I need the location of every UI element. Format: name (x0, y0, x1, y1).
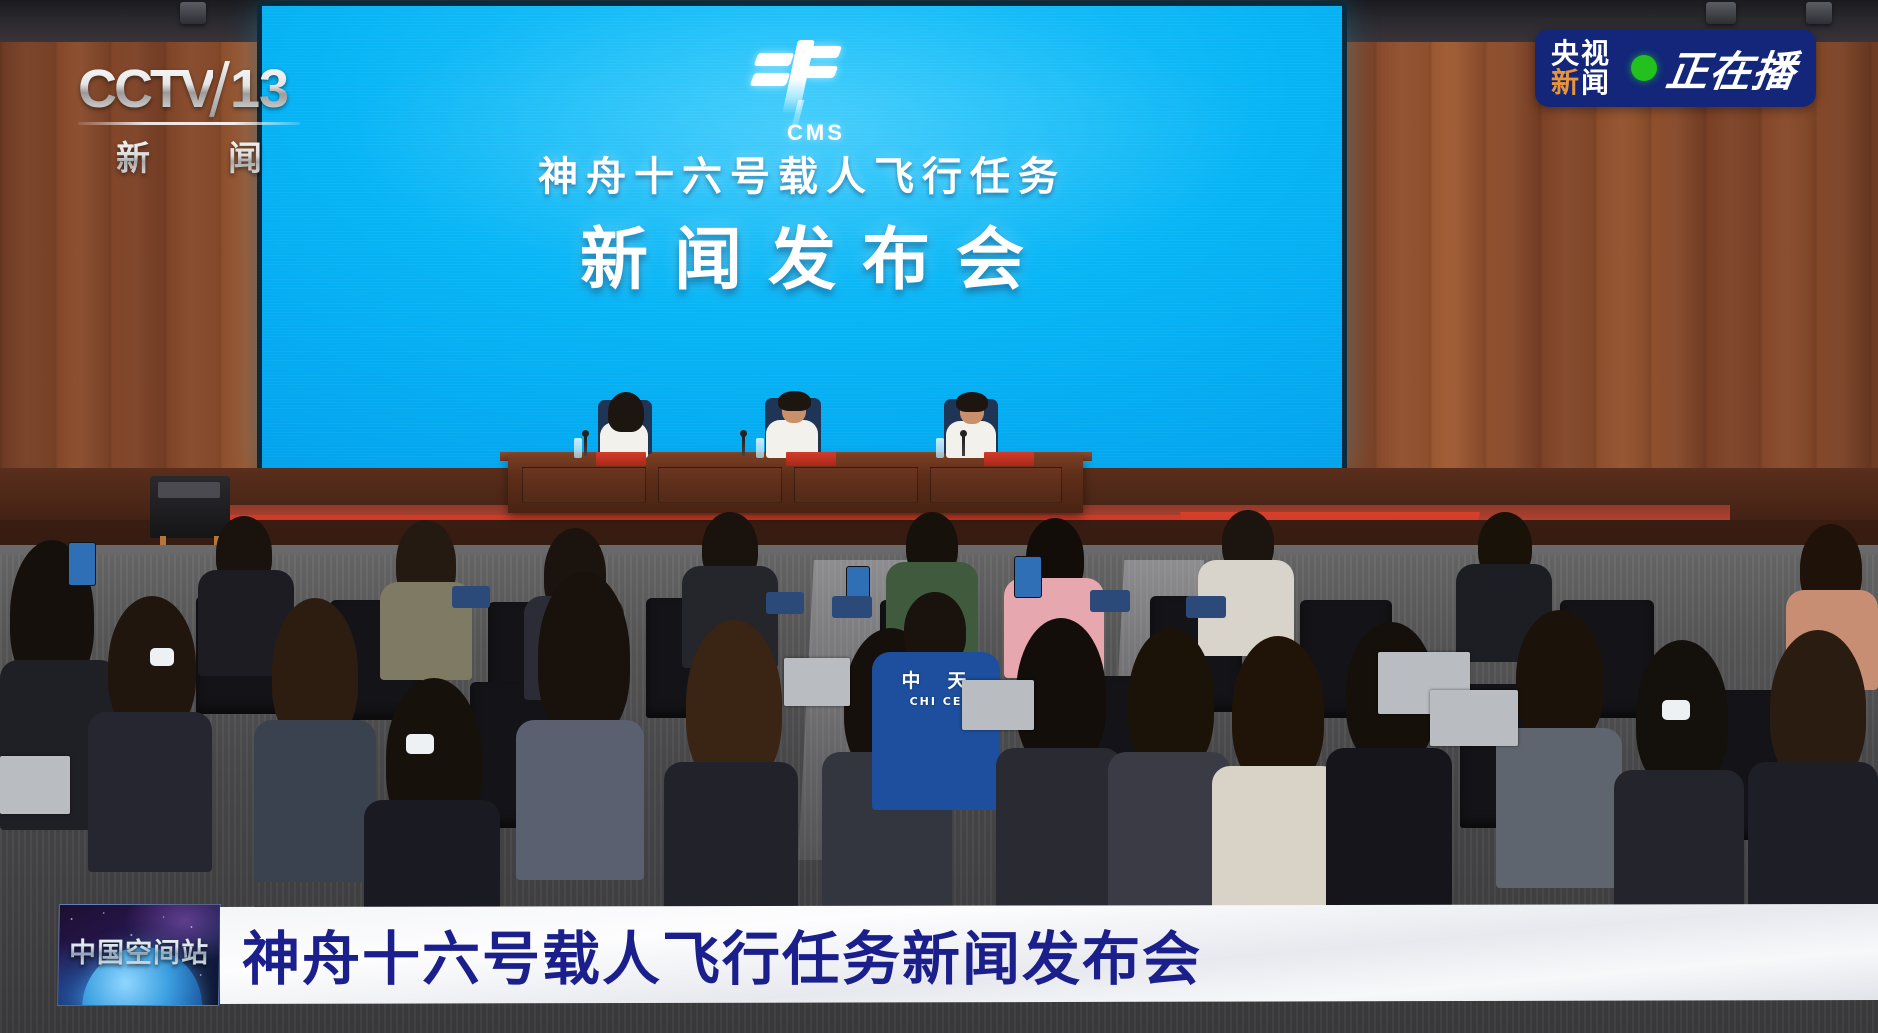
live-status-badge: 央视 新闻 正在播 (1535, 29, 1816, 107)
cms-emblem-icon (754, 40, 850, 114)
water-bottle (756, 438, 764, 458)
ceiling-light-fixture (180, 2, 206, 24)
ceiling-light-fixture (1706, 2, 1736, 24)
audience-phone (68, 542, 96, 586)
cctv-wordmark: CCTV (78, 58, 213, 120)
brand-line-xinwen: 新闻 (1551, 68, 1611, 97)
nameplate-left (596, 452, 646, 466)
seat-back-blue (452, 586, 490, 608)
screen-title-line2: 新闻发布会 (262, 204, 1342, 303)
cctv-channel-number: 13 (230, 58, 288, 120)
program-badge: 中国空间站 (57, 904, 221, 1006)
screen-title-line1: 神舟十六号载人飞行任务 (262, 144, 1342, 202)
water-bottle (574, 438, 582, 458)
table-microphone (742, 434, 745, 456)
cctv-subtitle: 新 闻 (78, 131, 300, 180)
brand-char-xin: 新 (1551, 66, 1581, 99)
live-status-text: 正在播 (1663, 38, 1801, 99)
nameplate-right (984, 452, 1034, 466)
table-microphone (962, 434, 965, 456)
headline-text: 神舟十六号载人飞行任务新闻发布会 (220, 912, 1202, 996)
audience-phone (1014, 556, 1042, 598)
table-microphone (584, 434, 587, 456)
brand-line-yangshi: 央视 (1551, 39, 1611, 68)
face-mask (1662, 700, 1690, 720)
audience-laptop (1430, 690, 1518, 746)
audience-laptop (0, 756, 70, 814)
channel-logo: CCTV 13 新 闻 (78, 58, 308, 170)
seat-back-blue (832, 596, 872, 618)
program-badge-text: 中国空间站 (59, 931, 220, 970)
audience-laptop (962, 680, 1034, 730)
cctv-news-brand: 央视 新闻 (1535, 29, 1621, 107)
seat-back-blue (766, 592, 804, 614)
water-bottle (936, 438, 944, 458)
ceiling-light-fixture (1806, 2, 1832, 24)
brand-char-wen: 闻 (1581, 66, 1611, 99)
live-status-text-wrap: 正在播 (1667, 29, 1816, 107)
face-mask (406, 734, 434, 754)
broadcast-frame: CMS 神舟十六号载人飞行任务 新闻发布会 (0, 0, 1878, 1033)
headline-bar: 神舟十六号载人飞行任务新闻发布会 (220, 904, 1878, 1004)
cms-logo: CMS (754, 40, 850, 146)
seat-back-blue (1186, 596, 1226, 618)
face-mask (150, 648, 174, 666)
cart-panel (158, 482, 220, 498)
live-indicator-dot-icon (1631, 55, 1657, 81)
lower-third: 中国空间站 神舟十六号载人飞行任务新闻发布会 (58, 904, 1878, 1008)
cctv-underline (78, 122, 300, 125)
nameplate-center (786, 452, 836, 466)
seat-back-blue (1090, 590, 1130, 612)
audience-laptop (784, 658, 850, 706)
